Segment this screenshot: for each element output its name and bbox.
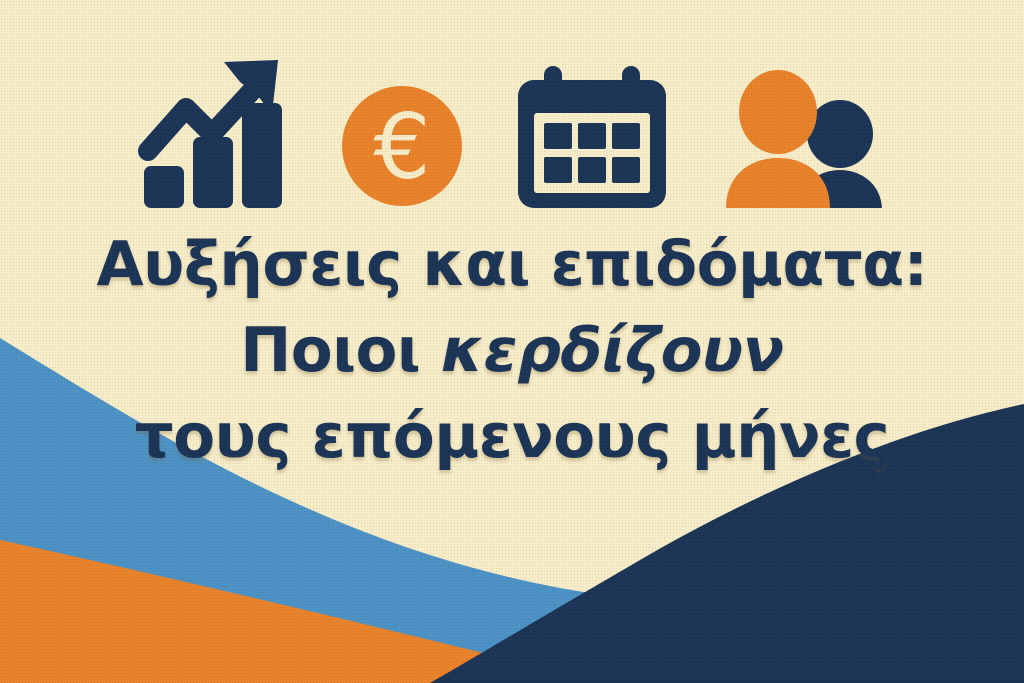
calendar-day-cell: [578, 157, 606, 183]
calendar-day-cell: [612, 123, 640, 149]
calendar-day-cell: [544, 123, 572, 149]
person-front-head: [739, 70, 817, 154]
headline-line-3: τους επόμενους μήνες: [0, 394, 1024, 480]
headline-line-2: Ποιοι κερδίζουν: [0, 308, 1024, 394]
calendar-icon: [516, 66, 668, 208]
euro-coin-icon: €: [340, 84, 464, 208]
person-front-body: [726, 158, 830, 208]
calendar-day-cell: [544, 157, 572, 183]
chart-bar-low: [144, 166, 184, 208]
headline-block: Αυξήσεις και επιδόματα: Ποιοι κερδίζουν …: [0, 222, 1024, 480]
people-group-icon: [720, 70, 886, 208]
headline-line-1: Αυξήσεις και επιδόματα:: [0, 222, 1024, 308]
icon-row: €: [0, 48, 1024, 208]
calendar-day-cell: [578, 123, 606, 149]
growth-bar-chart-arrow-icon: [138, 56, 288, 208]
headline-line-2-emphasis: κερδίζουν: [441, 315, 784, 386]
calendar-day-cell: [612, 157, 640, 183]
chart-bar-medium: [193, 137, 233, 208]
euro-symbol: €: [373, 95, 430, 200]
headline-line-2-plain: Ποιοι: [240, 315, 441, 386]
poster-canvas: €: [0, 0, 1024, 683]
chart-bar-high: [242, 103, 282, 208]
